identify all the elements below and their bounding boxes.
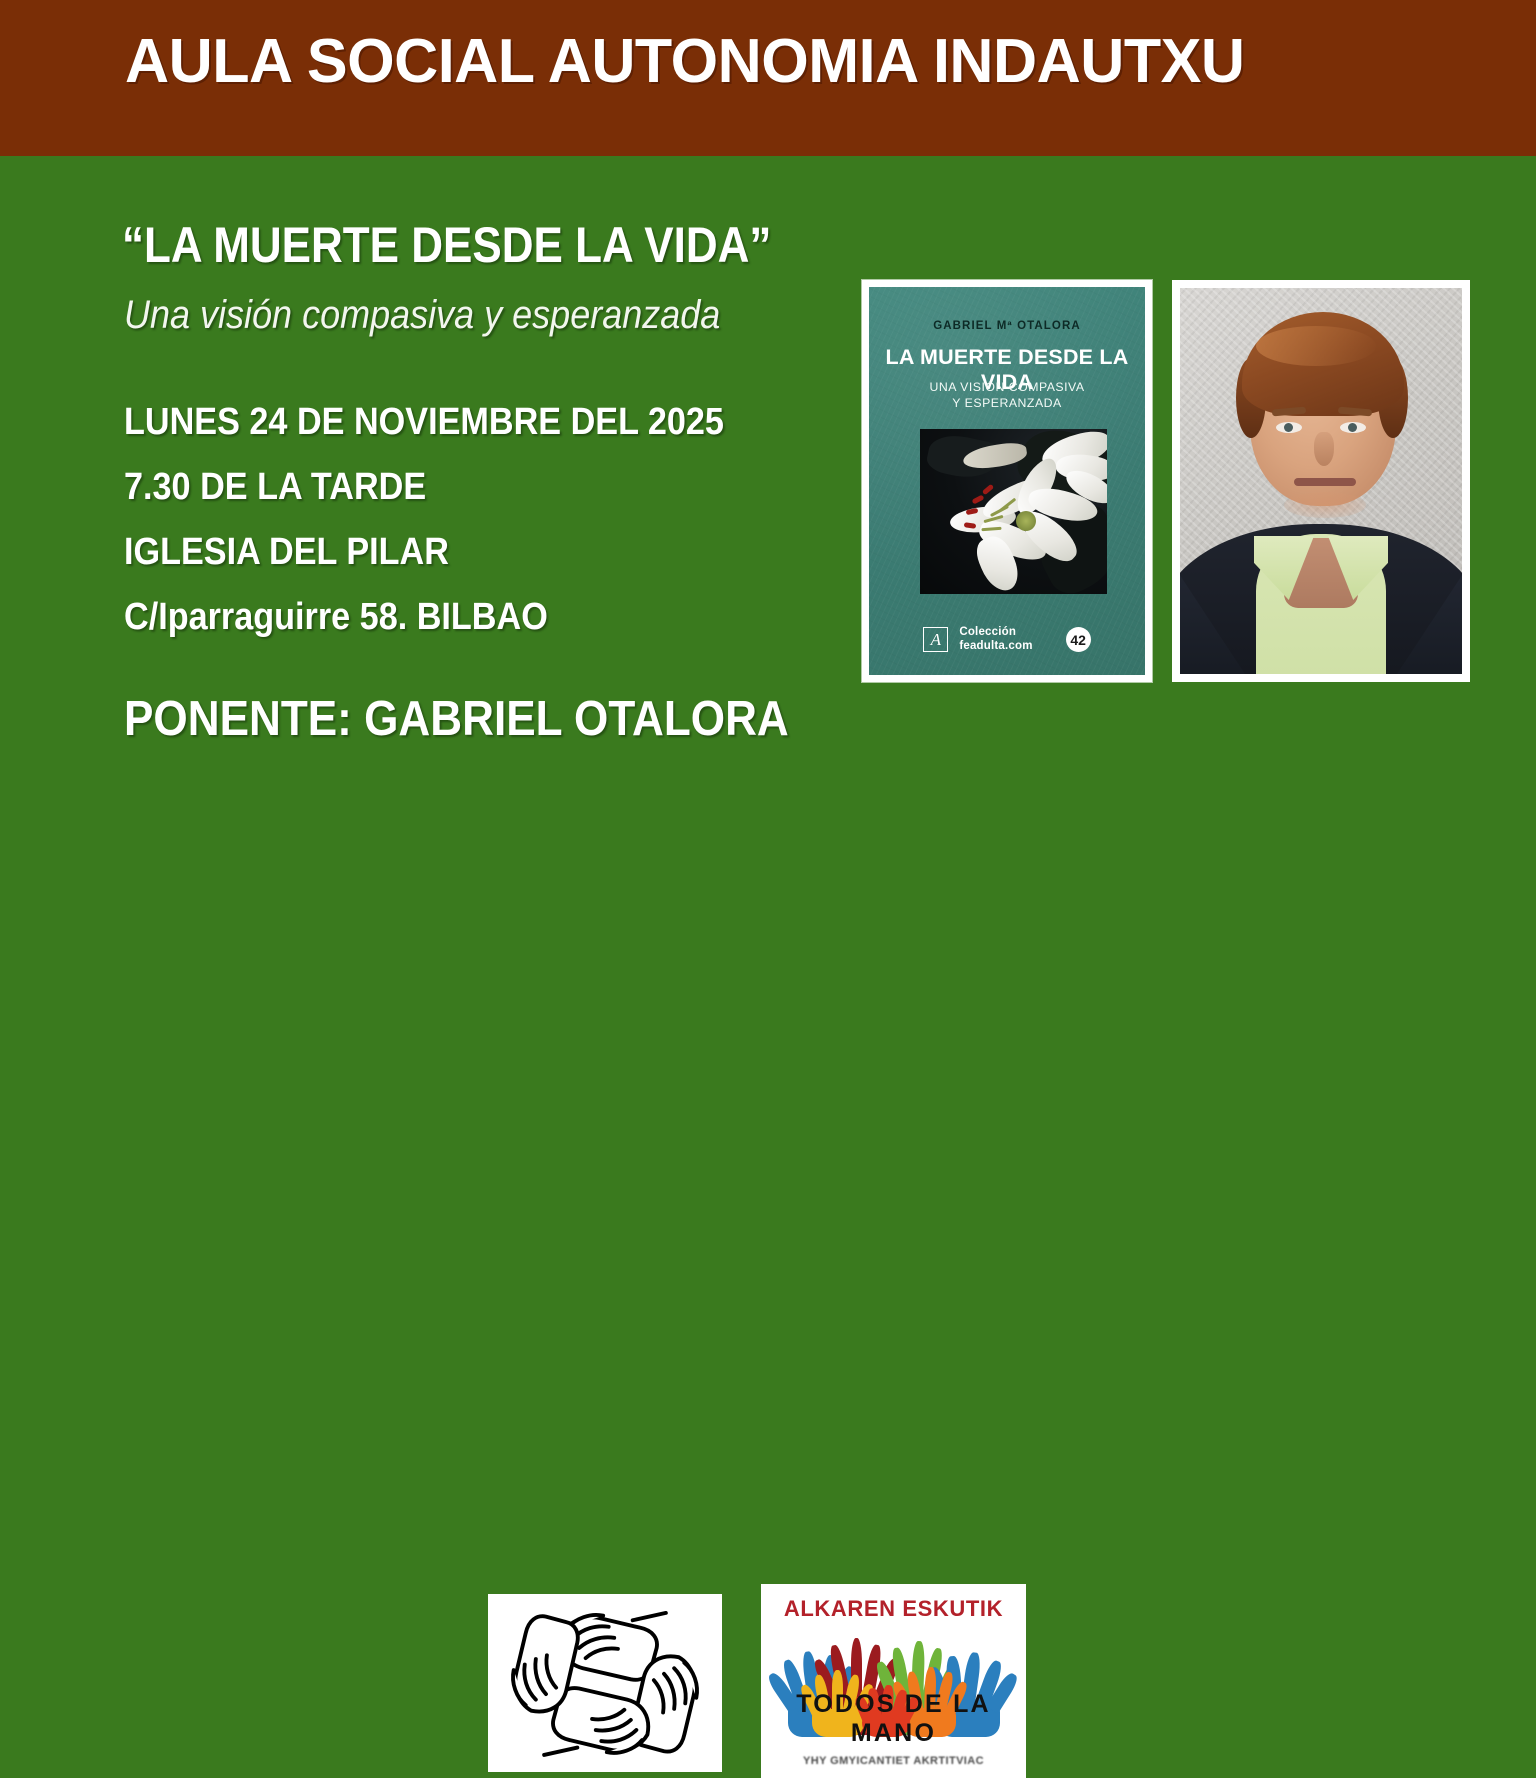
book-cover-image: GABRIEL Mª OTALORA LA MUERTE DESDE LA VI… [862,280,1152,682]
publisher-logo-icon: A [923,627,948,652]
alkaren-tagline: YHY GMYICANTIET AKRTITVIAC [764,1755,1023,1767]
alkaren-bottom-text: TODOS DE LA MANO [764,1690,1023,1748]
book-cover-art: GABRIEL Mª OTALORA LA MUERTE DESDE LA VI… [869,287,1145,675]
detail-line-venue: IGLESIA DEL PILAR [124,531,724,574]
book-publisher-row: A Colección feadulta.com 42 [869,626,1145,653]
interlocking-hands-logo [488,1594,722,1772]
logo-row: ALKAREN ESKUTIK [0,796,1536,986]
lily-center [1016,511,1036,531]
detail-line-time: 7.30 DE LA TARDE [124,466,724,509]
publisher-collection-label: Colección [959,626,1032,640]
page-title: AULA SOCIAL AUTONOMIA INDAUTXU [125,26,1245,97]
event-title: “LA MUERTE DESDE LA VIDA” [122,216,771,274]
eye-right [1340,422,1366,433]
collection-number-badge: 42 [1066,627,1091,652]
eye-left [1276,422,1302,433]
lily-photo [920,429,1107,594]
detail-line-date: LUNES 24 DE NOVIEMBRE DEL 2025 [124,401,724,444]
event-subtitle: Una visión compasiva y esperanzada [124,293,720,338]
speaker-line: PONENTE: GABRIEL OTALORA [124,691,789,747]
book-author: GABRIEL Mª OTALORA [869,320,1145,332]
interlocking-hands-icon [494,1600,716,1766]
lily-anther [982,484,994,496]
event-details: LUNES 24 DE NOVIEMBRE DEL 2025 7.30 DE L… [124,401,791,661]
mouth-shape [1294,478,1356,486]
header-band: AULA SOCIAL AUTONOMIA INDAUTXU [0,0,1536,156]
book-subtitle-line1: UNA VISIÓN COMPASIVA [869,380,1145,396]
publisher-name: Colección feadulta.com [959,626,1032,653]
alkaren-top-text: ALKAREN ESKUTIK [764,1596,1023,1622]
lily-anther [972,494,985,504]
alkaren-eskutik-logo: ALKAREN ESKUTIK [761,1584,1026,1778]
detail-line-address: C/Iparraguirre 58. BILBAO [124,596,724,639]
chin-highlight [1284,492,1366,518]
book-subtitle: UNA VISIÓN COMPASIVA Y ESPERANZADA [869,380,1145,411]
nose-shape [1314,432,1334,466]
book-subtitle-line2: Y ESPERANZADA [869,396,1145,412]
hair-shape [1242,312,1404,416]
speaker-portrait-image [1172,280,1470,682]
speaker-portrait-art [1180,288,1462,674]
publisher-site-label: feadulta.com [959,640,1032,654]
